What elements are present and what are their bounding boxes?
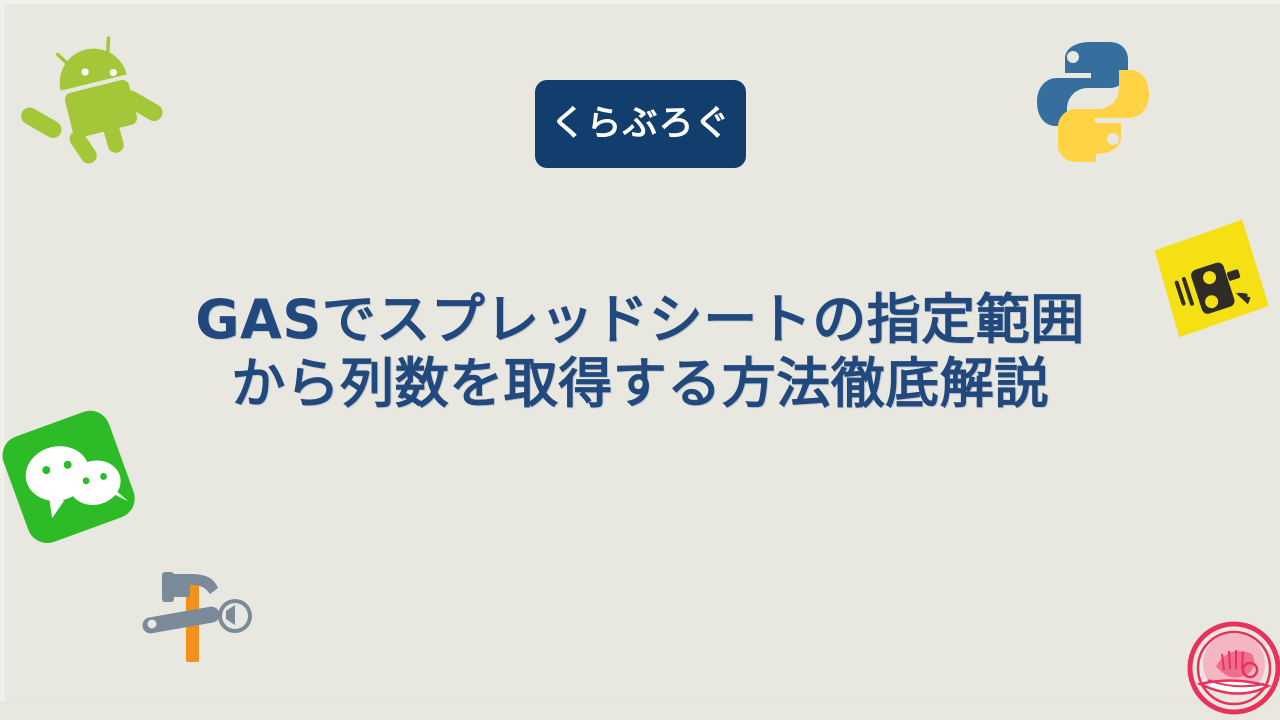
pink-circular-stamp-icon <box>1186 620 1280 716</box>
eyecatch-canvas: くらぶろぐ GASでスプレッドシートの指定範囲 から列数を取得する方法徹底解説 <box>0 0 1280 720</box>
page-title-line-2: から列数を取得する方法徹底解説 <box>0 352 1280 416</box>
site-logo-text: くらぶろぐ <box>550 107 730 142</box>
hammer-wrench-tools-icon <box>140 556 270 662</box>
page-title-line-1: GASでスプレッドシートの指定範囲 <box>0 288 1280 352</box>
site-logo-badge[interactable]: くらぶろぐ <box>535 80 746 168</box>
python-logo-icon <box>1028 32 1158 164</box>
canvas-edge-bottom <box>0 702 1280 720</box>
canvas-edge-top <box>0 0 1280 4</box>
android-robot-icon <box>0 7 180 194</box>
wechat-logo-icon <box>0 398 154 559</box>
page-title: GASでスプレッドシートの指定範囲 から列数を取得する方法徹底解説 <box>0 288 1280 415</box>
